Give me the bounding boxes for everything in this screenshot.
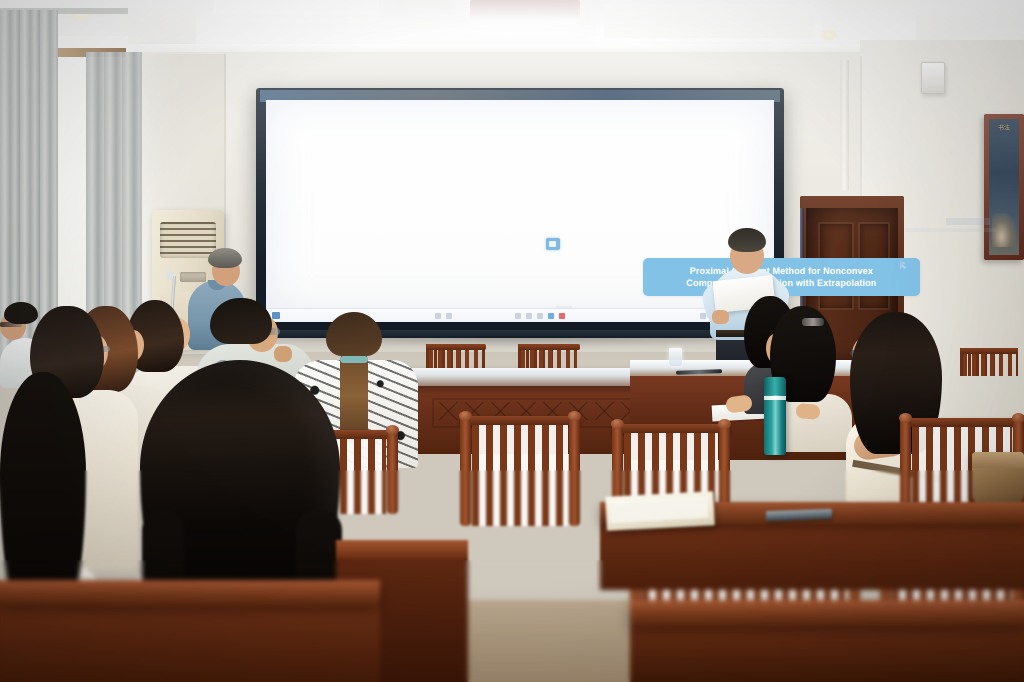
chair-post [387, 430, 398, 514]
recessed-downlight [818, 30, 840, 40]
hair-clip [802, 318, 824, 326]
chair-post [569, 416, 580, 526]
chair-knob [568, 411, 581, 421]
audience-member-hair [210, 298, 272, 344]
chair-knob [899, 413, 912, 423]
thermos-band [764, 396, 786, 400]
standing-attendee-hair [208, 248, 242, 268]
microphone-head-icon [166, 270, 173, 280]
bench [0, 602, 380, 682]
chair-post [460, 416, 471, 526]
presenter-hair [728, 228, 766, 252]
thermos-cap[interactable] [764, 377, 786, 395]
shapes-icon[interactable] [537, 313, 543, 319]
chair-top-rail [612, 424, 730, 433]
eraser-icon[interactable] [526, 313, 532, 319]
audience-hand [795, 403, 820, 420]
select-icon[interactable] [548, 313, 554, 319]
handbag-flap [972, 452, 1024, 468]
chair[interactable] [518, 344, 580, 370]
bench [630, 622, 1024, 682]
chair[interactable] [960, 348, 1018, 376]
record-icon[interactable] [559, 313, 565, 319]
chair-top-rail [460, 416, 580, 425]
chair-knob [718, 419, 731, 429]
chair-knob [459, 411, 472, 421]
chair-knob [611, 419, 624, 429]
bench-top [0, 580, 380, 606]
artwork-canvas: 书法 [989, 119, 1019, 255]
water-glass[interactable] [669, 348, 682, 366]
chair-top-rail [900, 418, 1024, 427]
slide-ui-hint [946, 218, 990, 225]
wall-speaker [921, 62, 945, 94]
audience-member-hair [326, 312, 382, 356]
framed-artwork: 书法 [984, 114, 1024, 260]
wall-pipe [840, 60, 849, 190]
seminar-room-photo: 书法 Proximal Gradient Method for Nonconve… [0, 0, 1024, 682]
chair[interactable] [460, 416, 580, 526]
chair-post [900, 418, 911, 514]
pen-icon[interactable] [515, 313, 521, 319]
chair-slats [963, 354, 1015, 376]
ceiling-panel-light [604, 4, 814, 38]
chair-slats [429, 350, 483, 370]
ceiling-panel-light [214, 0, 379, 14]
back-icon[interactable] [435, 313, 441, 319]
ceiling-panel-light [470, 0, 580, 20]
slide-ui-hint [906, 228, 996, 232]
keyboard-icon[interactable] [446, 313, 452, 319]
presentation-screen[interactable]: Proximal Gradient Method for Nonconvex C… [266, 100, 774, 322]
presenter-left-hand [712, 310, 729, 324]
chair-slats [521, 350, 577, 370]
bench-top [630, 600, 1024, 626]
bench-top [336, 540, 468, 558]
presentation-logo-chip [546, 238, 560, 250]
chair[interactable] [426, 344, 486, 370]
chair-knob [1012, 413, 1024, 423]
chair-slats [472, 425, 568, 526]
desk [600, 520, 1024, 590]
audience-member-hair [0, 372, 86, 612]
chair-knob [386, 425, 399, 435]
artwork-caption: 书法 [991, 125, 1017, 133]
